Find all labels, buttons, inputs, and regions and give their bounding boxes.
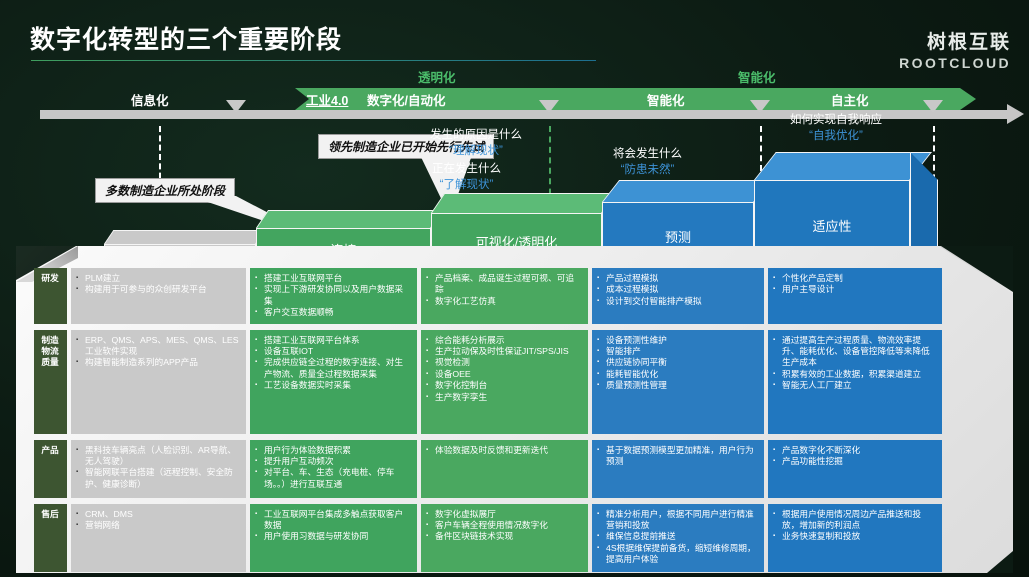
cell-r3-c4: 根据用户使用情况周边产品推送和投放，增加新的利润点业务快速复制和投放 — [768, 504, 942, 572]
qa-note-2: 将会发生什么“防患未然” — [613, 146, 682, 178]
qa-question: 如何实现自我响应 — [790, 112, 882, 128]
row-header-line: 产品 — [39, 445, 61, 456]
list-item: 数字化控制台 — [426, 380, 582, 391]
list-item: 搭建工业互联网平台体系 — [255, 335, 411, 346]
timeline-label-0: 信息化 — [131, 90, 169, 109]
row-header-line: 研发 — [39, 273, 61, 284]
list-item: 质量预测性管理 — [597, 380, 758, 391]
list-item: 工业互联网平台集成多触点获取客户数据 — [255, 509, 411, 532]
bullet-list: 个性化产品定制用户主导设计 — [773, 273, 936, 296]
list-item: 体验数据及时反馈和更新迭代 — [426, 445, 582, 456]
list-item: 实现上下游研发协同以及用户数据采集 — [255, 284, 411, 307]
qa-answer: “理解现状” — [430, 143, 522, 159]
logo-english-text: ROOTCLOUD — [899, 55, 1011, 71]
list-item: 生产数字孪生 — [426, 392, 582, 403]
cell-r2-c4: 产品数字化不断深化产品功能性挖掘 — [768, 440, 942, 498]
block-top-face — [431, 193, 615, 213]
page-title: 数字化转型的三个重要阶段 — [30, 20, 342, 56]
list-item: 数字化虚拟展厅 — [426, 509, 582, 520]
cell-r1-c1: 搭建工业互联网平台体系设备互联IOT完成供应链全过程的数字连接、对生产物流、质量… — [250, 330, 417, 434]
bullet-list: PLM建立构建用于可参与的众创研发平台 — [76, 273, 240, 296]
timeline-label-1: 工业4.0 — [306, 90, 348, 109]
list-item: 业务快速复制和投放 — [773, 531, 936, 542]
list-item: 视觉检测 — [426, 357, 582, 368]
qa-question: 发生的原因是什么 — [430, 127, 522, 143]
list-item: 设备OEE — [426, 369, 582, 380]
timeline-tick-1 — [539, 100, 559, 113]
bullet-list: 产品数字化不断深化产品功能性挖掘 — [773, 445, 936, 468]
list-item: 工艺设备数据实时采集 — [255, 380, 411, 391]
row-header-line: 物流 — [39, 346, 61, 357]
block-top-face — [602, 180, 771, 202]
brand-logo: 树根互联 ROOTCLOUD — [899, 27, 1011, 71]
block-label: 预测 — [665, 227, 691, 246]
list-item: 客户交互数据顺畅 — [255, 307, 411, 318]
list-item: ERP、QMS、APS、MES、QMS、LES工业软件实现 — [76, 335, 240, 358]
slide-root: 数字化转型的三个重要阶段 树根互联 ROOTCLOUD 透明化智能化 信息化工业… — [0, 0, 1029, 577]
timeline-label-3: 智能化 — [647, 90, 685, 109]
cell-r3-c2: 数字化虚拟展厅客户车辆全程使用情况数字化备件区块链技术实现 — [421, 504, 588, 572]
list-item: 积累有效的工业数据，积累渠道建立 — [773, 369, 936, 380]
cell-r0-c3: 产品过程模拟成本过程模拟设计到交付智能排产模拟 — [592, 268, 764, 324]
list-item: PLM建立 — [76, 273, 240, 284]
cell-r1-c0: ERP、QMS、APS、MES、QMS、LES工业软件实现构建智能制造系列的AP… — [71, 330, 246, 434]
cell-r0-c1: 搭建工业互联网平台实现上下游研发协同以及用户数据采集客户交互数据顺畅 — [250, 268, 417, 324]
timeline-label-4: 自主化 — [831, 90, 869, 109]
title-divider — [31, 60, 596, 61]
list-item: 构建用于可参与的众创研发平台 — [76, 284, 240, 295]
bullet-list: 工业互联网平台集成多触点获取客户数据用户使用习数据与研发协同 — [255, 509, 411, 543]
bullet-list: 精准分析用户，根据不同用户进行精准营销和投放维保信息提前推送4S根据维保提前备货… — [597, 509, 758, 566]
list-item: 产品数字化不断深化 — [773, 445, 936, 456]
bullet-list: 产品档案、成品诞生过程可视、可追踪数字化工艺仿真 — [426, 273, 582, 307]
list-item: 精准分析用户，根据不同用户进行精准营销和投放 — [597, 509, 758, 532]
phase-caption-1: 智能化 — [738, 67, 776, 86]
bullet-list: 根据用户使用情况周边产品推送和投放，增加新的利润点业务快速复制和投放 — [773, 509, 936, 543]
qa-note-3: 如何实现自我响应“自我优化” — [790, 112, 882, 144]
list-item: 成本过程模拟 — [597, 284, 758, 295]
list-item: 营销网络 — [76, 520, 240, 531]
qa-question: 将会发生什么 — [613, 146, 682, 162]
block-label: 适应性 — [812, 216, 851, 235]
row-header-line: 质量 — [39, 357, 61, 368]
list-item: 用户行为体验数据积累 — [255, 445, 411, 456]
cell-r0-c0: PLM建立构建用于可参与的众创研发平台 — [71, 268, 246, 324]
table-row: 产品黑科技车辆亮点（人脸识别、AR导航、无人驾驶）智能网联平台搭建（远程控制、安… — [34, 440, 942, 498]
table-row: 售后CRM、DMS营销网络工业互联网平台集成多触点获取客户数据用户使用习数据与研… — [34, 504, 942, 572]
cell-r1-c4: 通过提高生产过程质量、物流效率提升、能耗优化、设备管控降低等来降低生产成本积累有… — [768, 330, 942, 434]
list-item: 用户主导设计 — [773, 284, 936, 295]
list-item: 生产拉动保及时性保证JIT/SPS/JIS — [426, 346, 582, 357]
logo-chinese-text: 树根互联 — [899, 27, 1011, 54]
cell-r1-c2: 综合能耗分析展示生产拉动保及时性保证JIT/SPS/JIS视觉检测设备OEE数字… — [421, 330, 588, 434]
list-item: CRM、DMS — [76, 509, 240, 520]
cell-r2-c2: 体验数据及时反馈和更新迭代 — [421, 440, 588, 498]
list-item: 构建智能制造系列的APP产品 — [76, 357, 240, 368]
row-header-3: 售后 — [34, 504, 67, 572]
list-item: 根据用户使用情况周边产品推送和投放，增加新的利润点 — [773, 509, 936, 532]
list-item: 产品功能性挖掘 — [773, 456, 936, 467]
row-header-line: 制造 — [39, 335, 61, 346]
list-item: 能耗智能优化 — [597, 369, 758, 380]
row-header-line: 售后 — [39, 509, 61, 520]
list-item: 备件区块链技术实现 — [426, 531, 582, 542]
bullet-list: ERP、QMS、APS、MES、QMS、LES工业软件实现构建智能制造系列的AP… — [76, 335, 240, 369]
block-top-face — [256, 210, 443, 228]
cell-r2-c1: 用户行为体验数据积累提升用户互动频次对平台、车、生态（充电桩、停车场。。）进行互… — [250, 440, 417, 498]
bullet-list: 通过提高生产过程质量、物流效率提升、能耗优化、设备管控降低等来降低生产成本积累有… — [773, 335, 936, 392]
cell-r2-c3: 基于数据预测模型更加精准，用户行为预测 — [592, 440, 764, 498]
bullet-list: 搭建工业互联网平台体系设备互联IOT完成供应链全过程的数字连接、对生产物流、质量… — [255, 335, 411, 392]
bullet-list: 黑科技车辆亮点（人脸识别、AR导航、无人驾驶）智能网联平台搭建（远程控制、安全防… — [76, 445, 240, 491]
list-item: 提升用户互动频次 — [255, 456, 411, 467]
block-top-face — [754, 152, 932, 180]
bullet-list: 设备预测性维护智能排产供应链协同平衡能耗智能优化质量预测性管理 — [597, 335, 758, 392]
timeline-tick-2 — [750, 100, 770, 113]
list-item: 对平台、车、生态（充电桩、停车场。。）进行互联互通 — [255, 467, 411, 490]
block-top-face — [104, 230, 265, 244]
list-item: 基于数据预测模型更加精准，用户行为预测 — [597, 445, 758, 468]
timeline-label-2: 数字化/自动化 — [367, 90, 445, 109]
list-item: 4S根据维保提前备货，缩短维修周期，提高用户体验 — [597, 543, 758, 566]
list-item: 完成供应链全过程的数字连接、对生产物流、质量全过程数据采集 — [255, 357, 411, 380]
list-item: 智能网联平台搭建（远程控制、安全防护、健康诊断） — [76, 467, 240, 490]
list-item: 供应链协同平衡 — [597, 357, 758, 368]
list-item: 设备互联IOT — [255, 346, 411, 357]
bullet-list: 体验数据及时反馈和更新迭代 — [426, 445, 582, 456]
phase-caption-0: 透明化 — [418, 67, 456, 86]
list-item: 客户车辆全程使用情况数字化 — [426, 520, 582, 531]
qa-question: 正在发生什么 — [432, 161, 501, 177]
list-item: 设备预测性维护 — [597, 335, 758, 346]
list-item: 智能排产 — [597, 346, 758, 357]
row-header-0: 研发 — [34, 268, 67, 324]
list-item: 智能无人工厂建立 — [773, 380, 936, 391]
cell-r0-c2: 产品档案、成品诞生过程可视、可追踪数字化工艺仿真 — [421, 268, 588, 324]
bullet-list: 搭建工业互联网平台实现上下游研发协同以及用户数据采集客户交互数据顺畅 — [255, 273, 411, 319]
cell-r3-c3: 精准分析用户，根据不同用户进行精准营销和投放维保信息提前推送4S根据维保提前备货… — [592, 504, 764, 572]
list-item: 黑科技车辆亮点（人脸识别、AR导航、无人驾驶） — [76, 445, 240, 468]
list-item: 产品过程模拟 — [597, 273, 758, 284]
timeline-tick-0 — [226, 100, 246, 113]
bullet-list: 用户行为体验数据积累提升用户互动频次对平台、车、生态（充电桩、停车场。。）进行互… — [255, 445, 411, 491]
table-row: 研发PLM建立构建用于可参与的众创研发平台搭建工业互联网平台实现上下游研发协同以… — [34, 268, 942, 324]
list-item: 产品档案、成品诞生过程可视、可追踪 — [426, 273, 582, 296]
cell-r0-c4: 个性化产品定制用户主导设计 — [768, 268, 942, 324]
cell-r3-c0: CRM、DMS营销网络 — [71, 504, 246, 572]
bullet-list: 综合能耗分析展示生产拉动保及时性保证JIT/SPS/JIS视觉检测设备OEE数字… — [426, 335, 582, 403]
cell-r1-c3: 设备预测性维护智能排产供应链协同平衡能耗智能优化质量预测性管理 — [592, 330, 764, 434]
list-item: 个性化产品定制 — [773, 273, 936, 284]
qa-answer: “防患未然” — [613, 162, 682, 178]
list-item: 数字化工艺仿真 — [426, 296, 582, 307]
list-item: 搭建工业互联网平台 — [255, 273, 411, 284]
list-item: 通过提高生产过程质量、物流效率提升、能耗优化、设备管控降低等来降低生产成本 — [773, 335, 936, 369]
cell-r2-c0: 黑科技车辆亮点（人脸识别、AR导航、无人驾驶）智能网联平台搭建（远程控制、安全防… — [71, 440, 246, 498]
bullet-list: CRM、DMS营销网络 — [76, 509, 240, 532]
qa-answer: “自我优化” — [790, 128, 882, 144]
capability-matrix-table: 研发PLM建立构建用于可参与的众创研发平台搭建工业互联网平台实现上下游研发协同以… — [30, 262, 946, 577]
cell-r3-c1: 工业互联网平台集成多触点获取客户数据用户使用习数据与研发协同 — [250, 504, 417, 572]
list-item: 设计到交付智能排产模拟 — [597, 296, 758, 307]
bullet-list: 产品过程模拟成本过程模拟设计到交付智能排产模拟 — [597, 273, 758, 307]
list-item: 维保信息提前推送 — [597, 531, 758, 542]
qa-note-0: 发生的原因是什么“理解现状” — [430, 127, 522, 159]
row-header-2: 产品 — [34, 440, 67, 498]
bullet-list: 基于数据预测模型更加精准，用户行为预测 — [597, 445, 758, 468]
bullet-list: 数字化虚拟展厅客户车辆全程使用情况数字化备件区块链技术实现 — [426, 509, 582, 543]
timeline-tick-3 — [923, 100, 943, 113]
list-item: 用户使用习数据与研发协同 — [255, 531, 411, 542]
list-item: 综合能耗分析展示 — [426, 335, 582, 346]
row-header-1: 制造物流质量 — [34, 330, 67, 434]
table-row: 制造物流质量ERP、QMS、APS、MES、QMS、LES工业软件实现构建智能制… — [34, 330, 942, 434]
